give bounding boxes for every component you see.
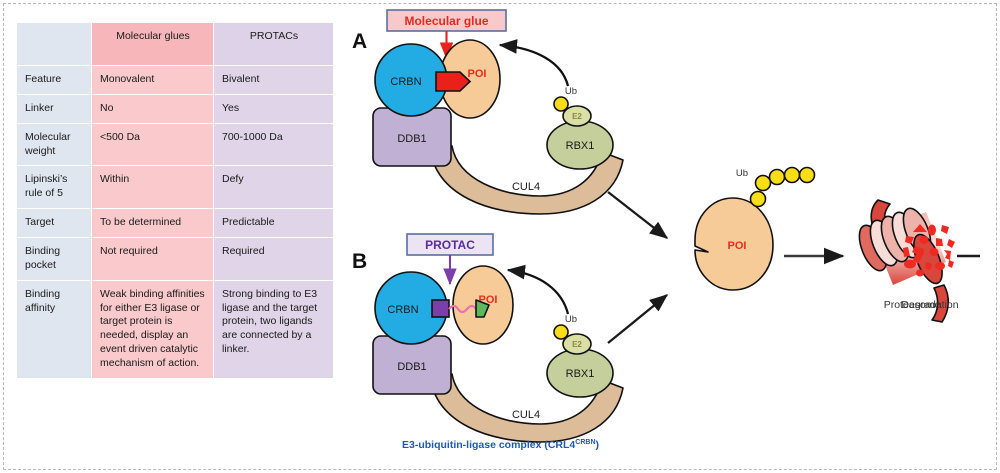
cell-target-protacs: Predictable xyxy=(214,209,334,238)
ub-shape xyxy=(554,97,568,111)
cell-lipinski-protacs: Defy xyxy=(214,166,334,209)
table-header-molecular-glues: Molecular glues xyxy=(92,23,214,66)
protac-label: PROTAC xyxy=(425,238,475,252)
ub-shape xyxy=(554,325,568,339)
cell-molecular-weight-molecular-glues: <500 Da xyxy=(92,123,214,166)
panel-a-letter: A xyxy=(352,30,367,53)
poi-label: POI xyxy=(468,68,487,80)
ub-label: Ub xyxy=(565,314,577,325)
caption-main: E3-ubiquitin-ligase complex (CRL4 xyxy=(402,439,575,451)
cell-linker-protacs: Yes xyxy=(214,94,334,123)
table-row: Lipinski’s rule of 5 Within Defy xyxy=(17,166,334,209)
svg-text:E3-ubiquitin-ligase complex (C: E3-ubiquitin-ligase complex (CRL4CRBN) xyxy=(402,439,599,451)
row-label-binding-pocket: Binding pocket xyxy=(17,238,92,281)
figure-root: Molecular glues PROTACs Feature Monovale… xyxy=(0,0,1000,473)
table-header-blank xyxy=(17,23,92,66)
cell-lipinski-molecular-glues: Within xyxy=(92,166,214,209)
cell-binding-pocket-molecular-glues: Not required xyxy=(92,238,214,281)
ub-chain-node xyxy=(770,170,785,185)
ubiquitinated-poi: POI Ub xyxy=(695,168,815,291)
ub-chain-node xyxy=(756,176,771,191)
panel-b: B PROTAC CUL4 DDB1 POI CRBN RBX1 xyxy=(352,234,623,442)
row-label-binding-affinity: Binding affinity xyxy=(17,280,92,378)
crbn-label: CRBN xyxy=(387,304,418,316)
table-header-protacs: PROTACs xyxy=(214,23,334,66)
table-row: Feature Monovalent Bivalent xyxy=(17,66,334,95)
cell-binding-affinity-molecular-glues: Weak binding affinities for either E3 li… xyxy=(92,280,214,378)
ub-label: Ub xyxy=(565,86,577,97)
row-label-target: Target xyxy=(17,209,92,238)
crbn-label: CRBN xyxy=(390,76,421,88)
rbx1-label: RBX1 xyxy=(566,140,595,152)
cell-binding-pocket-protacs: Required xyxy=(214,238,334,281)
cell-target-molecular-glues: To be determined xyxy=(92,209,214,238)
table-row: Molecular weight <500 Da 700-1000 Da xyxy=(17,123,334,166)
table-row: Linker No Yes xyxy=(17,94,334,123)
cul4-label: CUL4 xyxy=(512,409,540,421)
caption-superscript: CRBN xyxy=(575,439,595,446)
ub-label: Ub xyxy=(736,168,748,179)
mechanism-diagram: A Molecular glue CUL4 DDB1 POI CRBN xyxy=(340,0,1000,473)
table-row: Target To be determined Predictable xyxy=(17,209,334,238)
table-row: Binding pocket Not required Required xyxy=(17,238,334,281)
molecular-glue-label: Molecular glue xyxy=(404,14,488,28)
cul4-label: CUL4 xyxy=(512,181,540,193)
table-row: Binding affinity Weak binding affinities… xyxy=(17,280,334,378)
ub-chain-node xyxy=(800,168,815,183)
cell-linker-molecular-glues: No xyxy=(92,94,214,123)
cell-feature-protacs: Bivalent xyxy=(214,66,334,95)
ddb1-label: DDB1 xyxy=(397,133,426,145)
table-header-row: Molecular glues PROTACs xyxy=(17,23,334,66)
arrow-a-to-poi xyxy=(608,192,667,238)
rbx1-label: RBX1 xyxy=(566,368,595,380)
e2-label: E2 xyxy=(572,112,582,121)
proteasome-barrel-icon xyxy=(854,205,948,288)
caption-tail: ) xyxy=(596,439,600,451)
protac-warhead-icon xyxy=(432,300,449,317)
row-label-feature: Feature xyxy=(17,66,92,95)
degradation-label: Degradation xyxy=(901,299,958,311)
comparison-table: Molecular glues PROTACs Feature Monovale… xyxy=(16,22,334,379)
panel-b-letter: B xyxy=(352,250,367,273)
poi-label: POI xyxy=(728,240,747,252)
ddb1-label: DDB1 xyxy=(397,361,426,373)
e2-label: E2 xyxy=(572,340,582,349)
ub-chain-node xyxy=(751,192,766,207)
ubiquitination-arrow xyxy=(500,45,568,86)
arrow-b-to-poi xyxy=(608,295,667,343)
row-label-molecular-weight: Molecular weight xyxy=(17,123,92,166)
complex-caption: E3-ubiquitin-ligase complex (CRL4CRBN) xyxy=(402,439,599,451)
cell-binding-affinity-protacs: Strong binding to E3 ligase and the targ… xyxy=(214,280,334,378)
row-label-linker: Linker xyxy=(17,94,92,123)
ub-chain-node xyxy=(785,168,800,183)
cell-molecular-weight-protacs: 700-1000 Da xyxy=(214,123,334,166)
ubiquitination-arrow xyxy=(508,270,568,314)
row-label-lipinski-rule-of-5: Lipinski’s rule of 5 xyxy=(17,166,92,209)
cell-feature-molecular-glues: Monovalent xyxy=(92,66,214,95)
panel-a: A Molecular glue CUL4 DDB1 POI CRBN xyxy=(352,10,623,214)
